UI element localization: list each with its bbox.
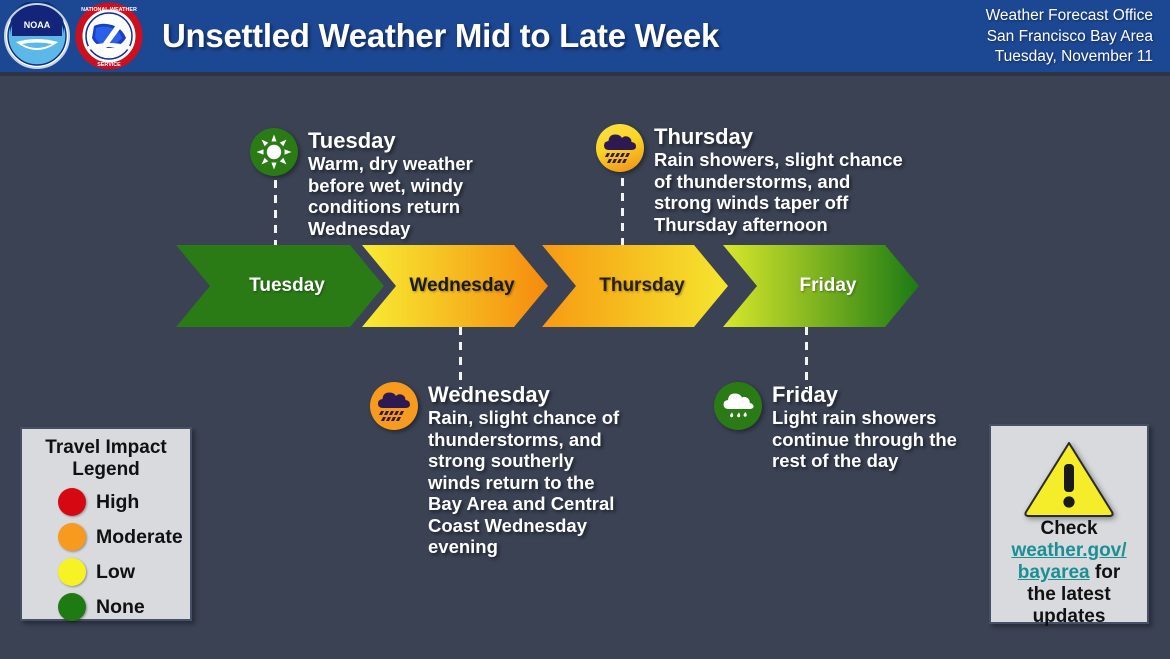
callout-text: Friday Light rain showers continue throu…: [772, 382, 957, 472]
callout-day: Friday: [772, 382, 957, 407]
connector-friday: [805, 327, 808, 389]
timeline-arrow-thursday[interactable]: Thursday: [542, 245, 728, 327]
legend-label: Low: [96, 561, 135, 584]
timeline-arrow-friday[interactable]: Friday: [723, 245, 919, 327]
legend-dot-icon: [58, 593, 86, 621]
legend-label: None: [96, 596, 145, 619]
legend-title-line2: Legend: [28, 459, 184, 481]
callout-description: Rain showers, slight chance of thunderst…: [654, 149, 903, 235]
timeline-arrow-label: Wednesday: [409, 275, 514, 297]
check-line-1: Check: [991, 518, 1147, 540]
check-link-line-1: weather.gov/: [991, 540, 1147, 562]
legend-item-high: High: [22, 488, 190, 516]
callout-day: Wednesday: [428, 382, 619, 407]
callout-description: Warm, dry weather before wet, windy cond…: [308, 153, 473, 239]
callout-thursday: Thursday Rain showers, slight chance of …: [596, 124, 926, 235]
callout-wednesday: Wednesday Rain, slight chance of thunder…: [370, 382, 650, 558]
legend-label: High: [96, 491, 139, 514]
callout-description: Light rain showers continue through the …: [772, 407, 957, 472]
connector-wednesday: [459, 327, 462, 389]
nws-logo: NATIONAL WEATHER SERVICE: [74, 2, 144, 70]
legend-dot-icon: [58, 488, 86, 516]
check-after-link: for: [1090, 562, 1121, 583]
timeline-arrow-label: Thursday: [599, 275, 685, 297]
sun-icon: [250, 128, 298, 176]
page-title: Unsettled Weather Mid to Late Week: [162, 17, 719, 55]
svg-text:SERVICE: SERVICE: [97, 62, 121, 68]
rain-shower-icon: [714, 382, 762, 430]
callout-tuesday: Tuesday Warm, dry weather before wet, wi…: [250, 128, 550, 239]
office-name: Weather Forecast Office: [986, 6, 1153, 27]
noaa-logo: NOAA: [2, 2, 72, 70]
legend-item-none: None: [22, 593, 190, 621]
legend-label: Moderate: [96, 526, 183, 549]
timeline-arrow-label: Friday: [799, 275, 856, 297]
callout-description: Rain, slight chance of thunderstorms, an…: [428, 407, 619, 558]
legend-dot-icon: [58, 523, 86, 551]
callout-text: Wednesday Rain, slight chance of thunder…: [428, 382, 619, 558]
thunderstorm-icon: [596, 124, 644, 172]
impact-timeline: Tuesday Wednesday Thursday Friday: [176, 245, 936, 327]
timeline-arrow-wednesday[interactable]: Wednesday: [362, 245, 548, 327]
svg-text:NATIONAL WEATHER: NATIONAL WEATHER: [81, 7, 137, 13]
check-line-4: updates: [991, 606, 1147, 628]
callout-day: Tuesday: [308, 128, 473, 153]
legend-item-moderate: Moderate: [22, 523, 190, 551]
check-updates-box: Check weather.gov/ bayarea for the lates…: [989, 424, 1149, 624]
weather-gov-link[interactable]: weather.gov/: [1011, 540, 1126, 561]
office-region: San Francisco Bay Area: [986, 27, 1153, 48]
legend-item-low: Low: [22, 558, 190, 586]
forecast-date: Tuesday, November 11: [986, 47, 1153, 68]
page-header: NOAA NATIONAL WEATHER SERVICE Unsettled …: [0, 0, 1170, 72]
callout-day: Thursday: [654, 124, 903, 149]
check-link-line-2: bayarea for: [991, 562, 1147, 584]
callout-text: Thursday Rain showers, slight chance of …: [654, 124, 903, 235]
legend-title-line1: Travel Impact: [28, 437, 184, 459]
legend-title: Travel Impact Legend: [22, 437, 190, 481]
travel-impact-legend: Travel Impact Legend High Moderate Low N…: [20, 427, 192, 621]
timeline-arrow-label: Tuesday: [249, 275, 325, 297]
svg-text:NOAA: NOAA: [24, 20, 51, 30]
header-divider: [0, 72, 1170, 76]
bayarea-link[interactable]: bayarea: [1018, 562, 1090, 583]
timeline-arrow-tuesday[interactable]: Tuesday: [176, 245, 384, 327]
header-meta: Weather Forecast Office San Francisco Ba…: [986, 6, 1153, 68]
thunderstorm-icon: [370, 382, 418, 430]
check-line-3: the latest: [991, 584, 1147, 606]
callout-friday: Friday Light rain showers continue throu…: [714, 382, 994, 472]
warning-triangle-icon: [1023, 438, 1115, 518]
legend-dot-icon: [58, 558, 86, 586]
callout-text: Tuesday Warm, dry weather before wet, wi…: [308, 128, 473, 239]
